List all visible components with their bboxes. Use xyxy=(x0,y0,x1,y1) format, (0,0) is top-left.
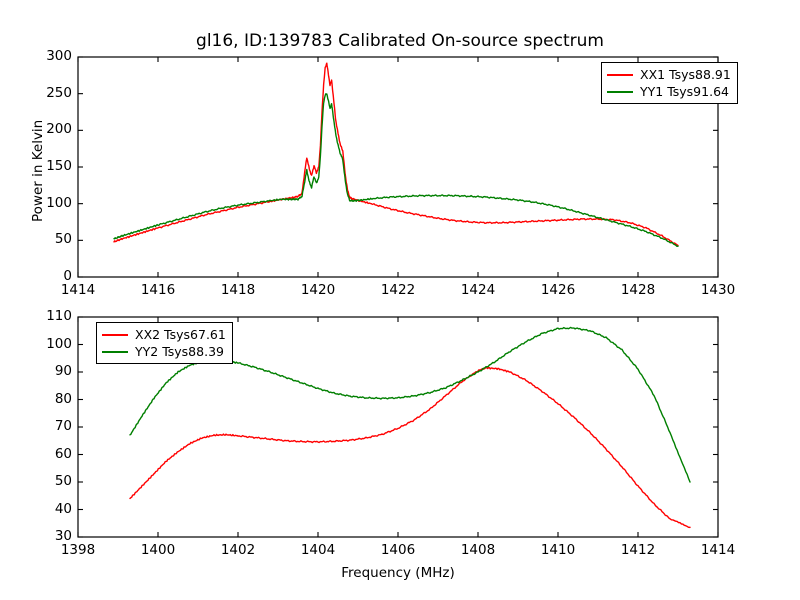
ytick-label: 0 xyxy=(26,268,72,284)
x-axis-label: Frequency (MHz) xyxy=(318,565,478,581)
legend-entry: YY1 Tsys91.64 xyxy=(607,83,731,100)
xtick-label: 1398 xyxy=(48,542,108,558)
series-line-xx2 xyxy=(130,367,690,527)
xtick-label: 1422 xyxy=(368,282,428,298)
legend-swatch-xx1 xyxy=(607,74,633,76)
xtick-label: 1402 xyxy=(208,542,268,558)
ytick-label: 300 xyxy=(26,48,72,64)
xtick-label: 1426 xyxy=(528,282,588,298)
ytick-label: 250 xyxy=(26,85,72,101)
legend-label-yy1: YY1 Tsys91.64 xyxy=(640,84,729,99)
legend-entry: XX2 Tsys67.61 xyxy=(102,326,226,343)
matplotlib-figure: gl16, ID:139783 Calibrated On-source spe… xyxy=(0,0,800,600)
legend-swatch-yy1 xyxy=(607,91,633,93)
legend-label-yy2: YY2 Tsys88.39 xyxy=(135,344,224,359)
xtick-label: 1430 xyxy=(688,282,748,298)
xtick-label: 1424 xyxy=(448,282,508,298)
xtick-label: 1404 xyxy=(288,542,348,558)
y-axis-label: Power in Kelvin xyxy=(30,120,46,222)
xtick-label: 1400 xyxy=(128,542,188,558)
legend-label-xx2: XX2 Tsys67.61 xyxy=(135,327,226,342)
ytick-label: 110 xyxy=(26,308,72,324)
xtick-label: 1414 xyxy=(688,542,748,558)
xtick-label: 1428 xyxy=(608,282,668,298)
ytick-label: 50 xyxy=(26,473,72,489)
legend-swatch-yy2 xyxy=(102,351,128,353)
legend-label-xx1: XX1 Tsys88.91 xyxy=(640,67,731,82)
xtick-label: 1408 xyxy=(448,542,508,558)
ytick-label: 50 xyxy=(26,231,72,247)
xtick-label: 1418 xyxy=(208,282,268,298)
ytick-label: 80 xyxy=(26,391,72,407)
xtick-label: 1414 xyxy=(48,282,108,298)
legend-swatch-xx2 xyxy=(102,334,128,336)
legend-top: XX1 Tsys88.91 YY1 Tsys91.64 xyxy=(601,62,738,104)
xtick-label: 1412 xyxy=(608,542,668,558)
xtick-label: 1406 xyxy=(368,542,428,558)
ytick-label: 40 xyxy=(26,501,72,517)
ytick-label: 60 xyxy=(26,446,72,462)
legend-entry: YY2 Tsys88.39 xyxy=(102,343,226,360)
legend-bottom: XX2 Tsys67.61 YY2 Tsys88.39 xyxy=(96,322,233,364)
xtick-label: 1410 xyxy=(528,542,588,558)
ytick-label: 30 xyxy=(26,528,72,544)
xtick-label: 1416 xyxy=(128,282,188,298)
ytick-label: 90 xyxy=(26,363,72,379)
ytick-label: 70 xyxy=(26,418,72,434)
legend-entry: XX1 Tsys88.91 xyxy=(607,66,731,83)
ytick-label: 100 xyxy=(26,336,72,352)
xtick-label: 1420 xyxy=(288,282,348,298)
